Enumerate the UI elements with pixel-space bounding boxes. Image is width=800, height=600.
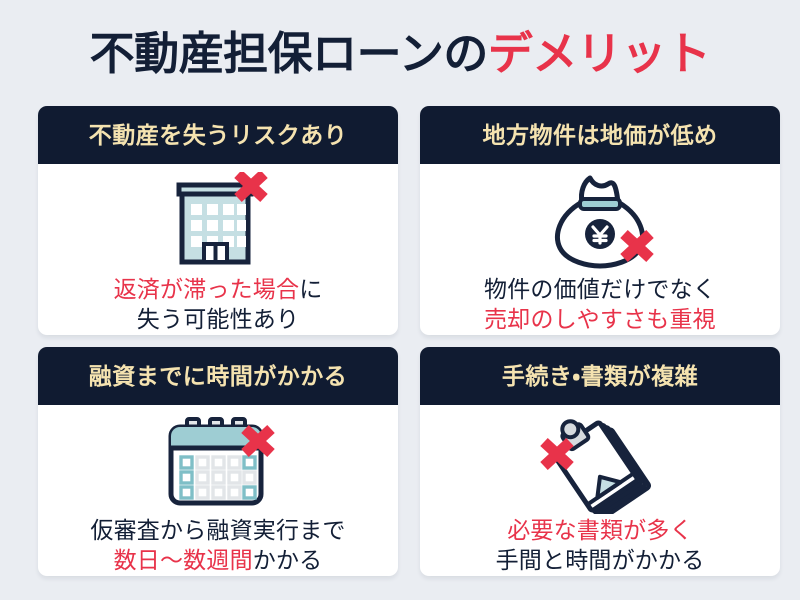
card-text-seg: 必要な書類が多く	[507, 517, 693, 543]
card-text-seg: 返済が滞った場合	[114, 276, 300, 302]
card-body: 仮審査から融資実行まで 数日〜数週間かかる	[38, 405, 398, 576]
page-title-red: デメリット	[488, 28, 711, 79]
card-body: 物件の価値だけでなく 売却のしやすさも重視	[420, 164, 780, 335]
icon-slot	[159, 413, 277, 513]
card-risk-of-losing-property: 不動産を失うリスクあり	[38, 106, 398, 335]
card-text-line: 返済が滞った場合に	[114, 274, 323, 304]
page-title-dark: 不動産担保ローンの	[90, 28, 488, 79]
cards-grid: 不動産を失うリスクあり	[0, 106, 800, 576]
page-title-text: 不動産担保ローンのデメリット	[90, 31, 711, 76]
infographic-poster: 不動産担保ローンのデメリット 不動産を失うリスクあり	[0, 0, 800, 600]
documents-with-cross-icon	[539, 412, 661, 514]
card-text-line: 物件の価値だけでなく	[484, 274, 716, 304]
card-text: 必要な書類が多く 手間と時間がかかる	[496, 515, 705, 576]
card-text-line: 数日〜数週間かかる	[90, 545, 345, 575]
card-header: 不動産を失うリスクあり	[38, 106, 398, 164]
card-text-seg: 物件の価値だけでなく	[484, 276, 716, 302]
card-text: 返済が滞った場合に 失う可能性あり	[114, 274, 323, 335]
card-text: 仮審査から融資実行まで 数日〜数週間かかる	[90, 515, 345, 576]
card-body: 必要な書類が多く 手間と時間がかかる	[420, 405, 780, 576]
card-header-label: 不動産を失うリスクあり	[89, 124, 348, 147]
card-text: 物件の価値だけでなく 売却のしやすさも重視	[484, 274, 716, 335]
card-text-seg: 数日〜数週間	[114, 547, 253, 573]
card-header: 手続き・書類が複雑	[420, 347, 780, 405]
card-header-label: 手続き・書類が複雑	[502, 365, 698, 388]
card-rural-land-value: 地方物件は地価が低め	[420, 106, 780, 335]
card-text-line: 売却のしやすさも重視	[484, 304, 716, 334]
card-text-line: 必要な書類が多く	[496, 515, 705, 545]
icon-slot	[544, 172, 656, 272]
card-text-seg: 売却のしやすさも重視	[484, 306, 716, 332]
card-text-line: 手間と時間がかかる	[496, 545, 705, 575]
money-bag-with-cross-icon	[544, 172, 656, 272]
card-header: 融資までに時間がかかる	[38, 347, 398, 405]
card-complex-paperwork: 手続き・書類が複雑	[420, 347, 780, 576]
card-text-seg: 仮審査から融資実行まで	[90, 517, 345, 543]
calendar-with-cross-icon	[159, 415, 277, 511]
icon-slot	[164, 172, 272, 272]
card-body: 返済が滞った場合に 失う可能性あり	[38, 164, 398, 335]
card-header-label: 地方物件は地価が低め	[483, 124, 718, 147]
page-title: 不動産担保ローンのデメリット	[0, 0, 800, 106]
card-text-seg: に	[299, 276, 322, 302]
card-text-seg: 失う可能性あり	[137, 306, 299, 332]
card-slow-financing: 融資までに時間がかかる	[38, 347, 398, 576]
building-with-cross-icon	[164, 172, 272, 272]
card-header-label: 融資までに時間がかかる	[89, 365, 348, 388]
card-header: 地方物件は地価が低め	[420, 106, 780, 164]
card-text-line: 仮審査から融資実行まで	[90, 515, 345, 545]
card-text-seg: かかる	[253, 547, 323, 573]
icon-slot	[539, 413, 661, 513]
card-text-seg: 手間と時間がかかる	[496, 547, 705, 573]
card-text-line: 失う可能性あり	[114, 304, 323, 334]
